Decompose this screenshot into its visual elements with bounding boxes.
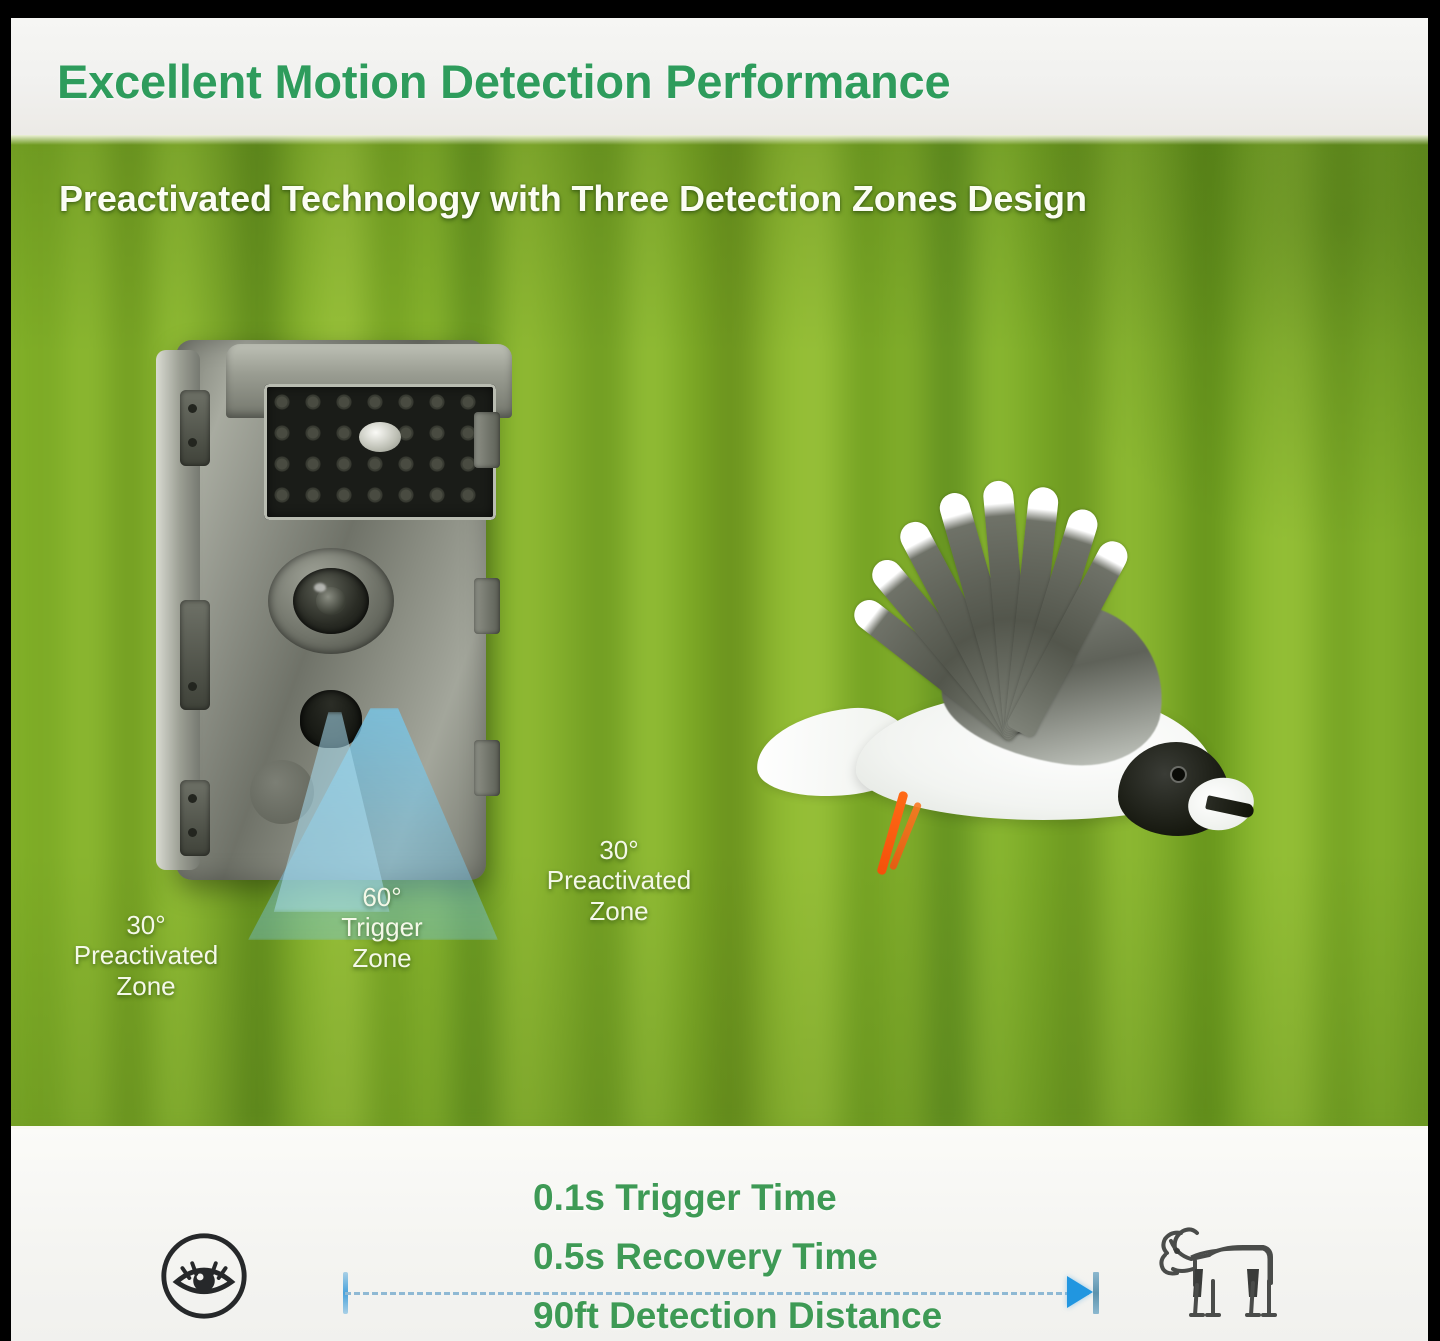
bird-wing (884, 402, 1184, 732)
spec-trigger-time: 0.1s Trigger Time (533, 1177, 837, 1219)
gull-in-flight (736, 390, 1236, 870)
camera-lens-housing (268, 548, 394, 654)
distance-line-end-cap (1093, 1272, 1099, 1314)
header-band: Excellent Motion Detection Performance (11, 18, 1428, 135)
zone-label-right: 30° Preactivated Zone (505, 835, 733, 926)
content-stage: Excellent Motion Detection Performance P… (11, 18, 1428, 1341)
camera-latch (474, 412, 500, 468)
camera-hinge (180, 780, 210, 856)
camera-latch (474, 740, 500, 796)
camera-hinge (180, 600, 210, 710)
zone-right-line3: Zone (505, 896, 733, 926)
ir-panel-bezel (264, 384, 496, 520)
bird-eye (1172, 768, 1185, 781)
zone-left-line2: Preactivated (31, 940, 261, 970)
zone-label-left: 30° Preactivated Zone (31, 910, 261, 1001)
camera-latch (474, 578, 500, 634)
hero-subtitle: Preactivated Technology with Three Detec… (59, 178, 1087, 220)
hinge-screw (188, 438, 197, 447)
zone-mid-line3: Zone (309, 943, 455, 973)
ir-led-panel (264, 384, 496, 520)
zone-mid-line2: Trigger (309, 912, 455, 942)
eye-icon (155, 1227, 253, 1325)
camera-lens (293, 568, 369, 634)
hinge-screw (188, 828, 197, 837)
zone-right-angle: 30° (505, 835, 733, 865)
page-title: Excellent Motion Detection Performance (57, 54, 950, 109)
hinge-screw (188, 794, 197, 803)
photo-top-fade (11, 135, 1428, 145)
trail-camera-product (138, 340, 508, 880)
zone-left-line3: Zone (31, 971, 261, 1001)
specification-bar: 0.1s Trigger Time 0.5s Recovery Time 90f… (11, 1126, 1428, 1341)
image-frame: Excellent Motion Detection Performance P… (0, 0, 1440, 1341)
spec-recovery-time: 0.5s Recovery Time (533, 1236, 878, 1278)
spec-detection-distance: 90ft Detection Distance (533, 1295, 942, 1337)
lens-highlight (314, 583, 326, 592)
hinge-screw (188, 404, 197, 413)
hinge-screw (188, 682, 197, 691)
zone-left-angle: 30° (31, 910, 261, 940)
camera-hinge-column (156, 350, 200, 870)
zone-right-line2: Preactivated (505, 865, 733, 895)
distance-arrowhead-icon (1067, 1276, 1093, 1308)
zone-label-middle: 60° Trigger Zone (309, 882, 455, 973)
hero-photo: Preactivated Technology with Three Detec… (11, 135, 1428, 1129)
zone-mid-angle: 60° (309, 882, 455, 912)
camera-hinge (180, 390, 210, 466)
goat-icon (1151, 1211, 1291, 1329)
